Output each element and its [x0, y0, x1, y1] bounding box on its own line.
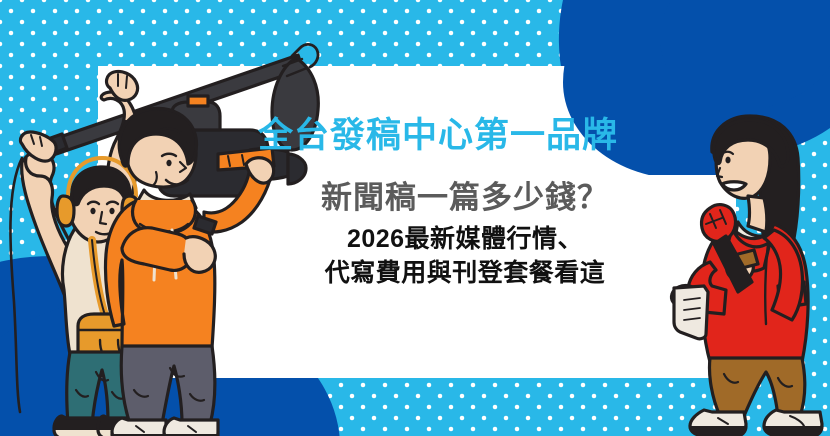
headline: 新聞稿一篇多少錢？: [255, 181, 675, 215]
subheadline-line-2: 代寫費用與刊登套餐看這: [255, 257, 675, 289]
subheadline-line-1: 2026最新媒體行情、: [255, 223, 675, 255]
brand-tagline: 全台發稿中心第一品牌: [258, 118, 675, 155]
banner-copy: 全台發稿中心第一品牌 新聞稿一篇多少錢？ 2026最新媒體行情、 代寫費用與刊登…: [255, 118, 675, 289]
promo-banner: 全台發稿中心第一品牌 新聞稿一篇多少錢？ 2026最新媒體行情、 代寫費用與刊登…: [0, 0, 830, 436]
field-reporter: [670, 110, 830, 436]
